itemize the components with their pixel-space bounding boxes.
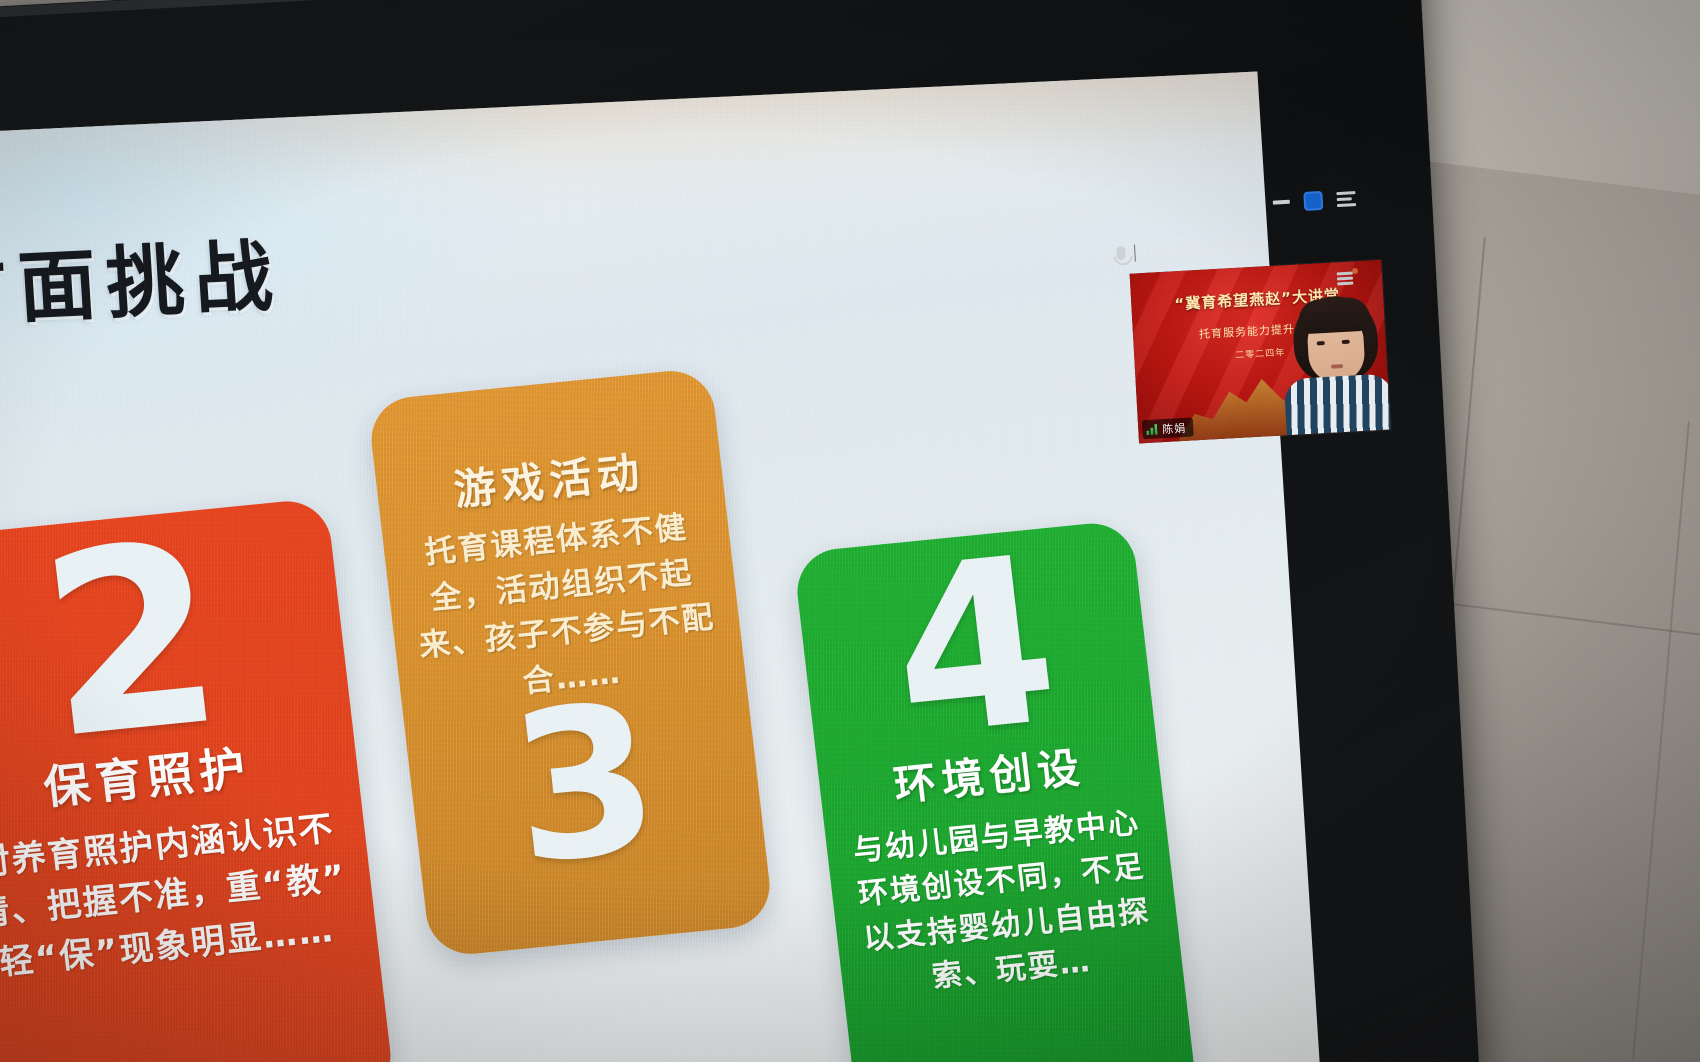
card-number: 4	[793, 519, 1155, 763]
participant-name-badge: 陈娟	[1142, 417, 1194, 439]
list-badge-icon[interactable]	[1337, 272, 1354, 286]
signal-strength-icon	[1146, 423, 1158, 435]
menu-list-icon[interactable]	[1336, 191, 1356, 207]
challenge-card-2: 2 保育照护 对养育照护内涵认识不清、把握不准，重“教”轻“保”现象明显……	[0, 497, 395, 1062]
card-number: 3	[403, 680, 766, 890]
notification-dot-icon	[1352, 268, 1358, 274]
restore-window-icon[interactable]	[1303, 190, 1323, 210]
video-conference-overlay: 正在讲话：陈娟 “冀育希望燕赵”大讲堂 托育服务能力提升培训 二零二四年 陈娟	[1077, 174, 1393, 490]
wall-panel-lower	[1440, 602, 1700, 1062]
participant-name: 陈娟	[1162, 419, 1187, 436]
card-body: 对养育照护内涵认识不清、把握不准，重“教”轻“保”现象明显……	[0, 800, 379, 992]
minimize-icon[interactable]	[1273, 200, 1290, 205]
challenge-card-4: 4 环境创设 与幼儿园与早教中心环境创设不同，不足以支持婴幼儿自由探索、玩耍…	[793, 519, 1202, 1062]
screenshot-stage: 八方面挑战 2 保育照护 对养育照护内涵认识不清、把握不准，重“教”轻“保”现象…	[0, 0, 1700, 1062]
participant-video-tile[interactable]: “冀育希望燕赵”大讲堂 托育服务能力提升培训 二零二四年 陈娟	[1130, 260, 1391, 444]
status-divider	[1134, 244, 1136, 261]
card-body: 与幼儿园与早教中心环境创设不同，不足以支持婴幼儿自由探索、玩耍…	[825, 799, 1183, 1009]
slide-title: 八方面挑战	[0, 214, 285, 347]
microphone-icon	[1116, 246, 1126, 260]
participant-avatar	[1277, 291, 1391, 435]
challenge-card-3: 游戏活动 托育课程体系不健全，活动组织不起来、孩子不参与不配合…… 3	[367, 367, 774, 958]
speaking-status-text: 正在讲话：陈娟	[1144, 235, 1257, 262]
card-title: 游戏活动	[367, 367, 724, 526]
